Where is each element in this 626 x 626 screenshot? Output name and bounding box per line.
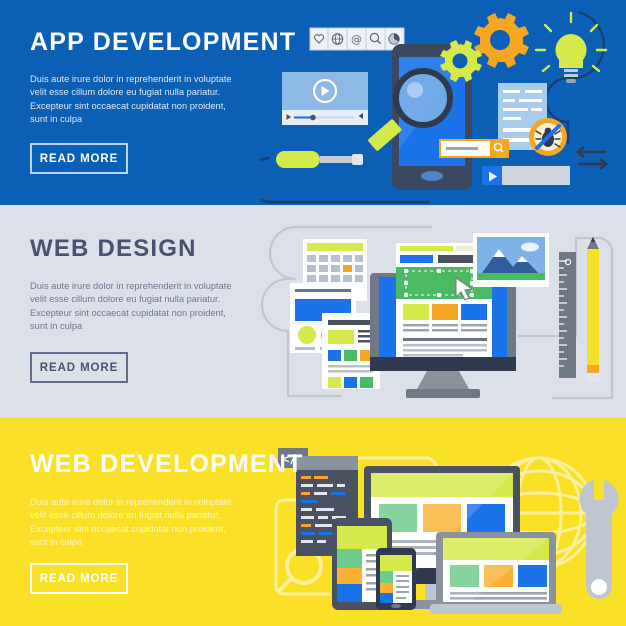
banner-body-web-design: Duis aute irure dolor in reprehenderit i… — [30, 280, 245, 333]
bug-disabled-badge — [529, 118, 567, 156]
app-development-illustration: @ — [260, 0, 626, 205]
banner-app-development: @ — [0, 0, 626, 205]
smartphone-device — [376, 548, 416, 610]
banner-title-web-development: WEB DEVELOPMENT — [30, 450, 304, 479]
read-more-button-web-design[interactable]: READ MORE — [30, 352, 128, 383]
mountain-photo — [473, 233, 549, 287]
pencil-icon — [587, 237, 599, 382]
video-player — [282, 72, 368, 125]
svg-text:@: @ — [351, 33, 362, 46]
banner-web-design: WEB DESIGN Duis aute irure dolor in repr… — [0, 205, 626, 418]
read-more-button-web-development[interactable]: READ MORE — [30, 563, 128, 594]
read-more-button-app[interactable]: READ MORE — [30, 143, 128, 174]
search-bar — [440, 140, 508, 157]
banner-title-app: APP DEVELOPMENT — [30, 28, 296, 57]
banner-title-web-design: WEB DESIGN — [30, 235, 197, 263]
banner-web-development: </> — [0, 418, 626, 626]
icon-toolbar: @ — [310, 28, 404, 50]
web-development-illustration: </> — [260, 418, 626, 626]
banner-stack: @ — [0, 0, 626, 626]
web-design-illustration — [260, 205, 626, 418]
ruler-icon — [559, 252, 576, 378]
laptop-device — [430, 532, 562, 614]
banner-body-web-development: Duis aute irure dolor in reprehenderit i… — [30, 496, 245, 549]
banner-body-app: Duis aute irure dolor in reprehenderit i… — [30, 73, 245, 126]
play-button-bar — [482, 166, 570, 185]
